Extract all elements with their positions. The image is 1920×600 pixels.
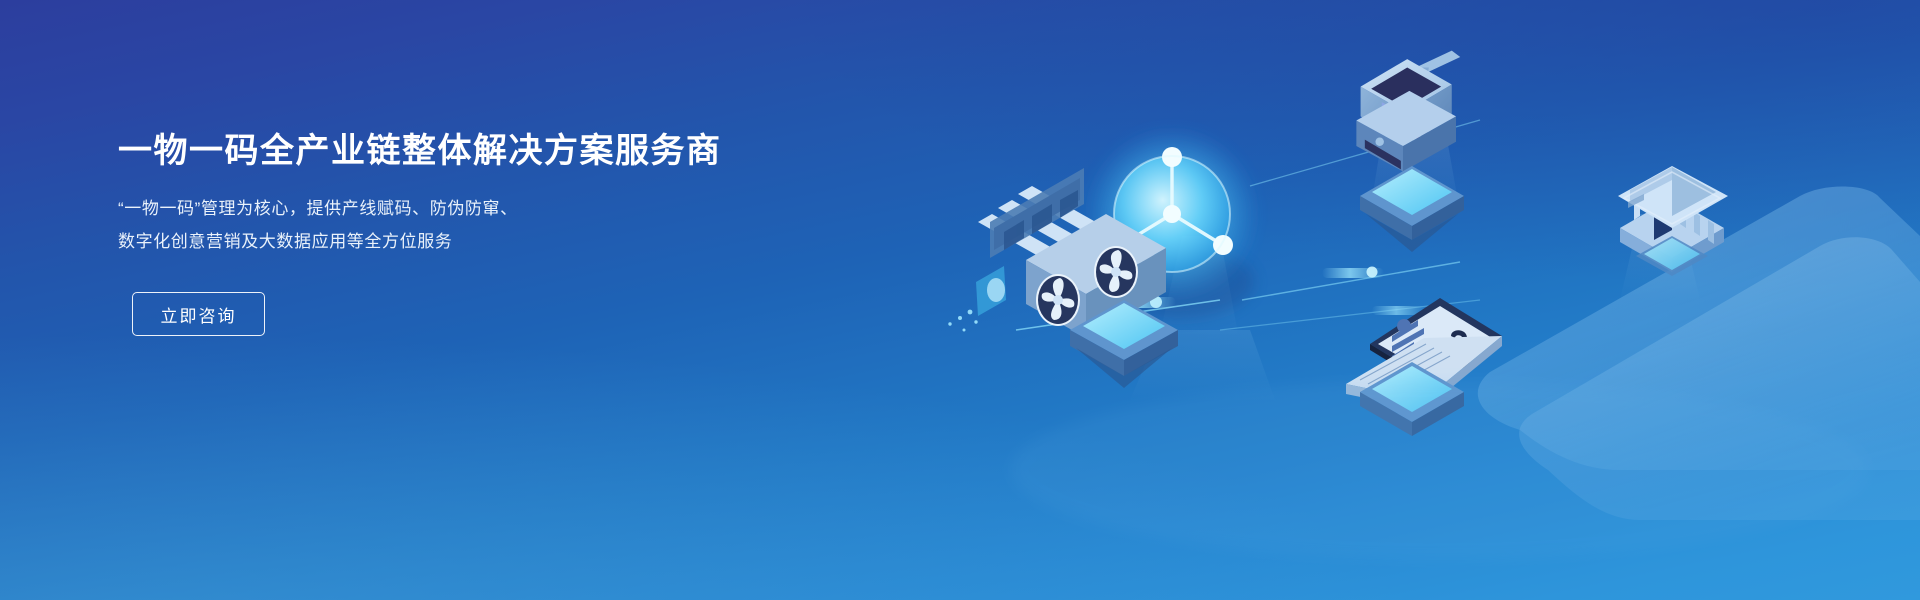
consult-now-button[interactable]: 立即咨询 [132,292,265,336]
emitter-particles [948,266,1006,332]
page-title: 一物一码全产业链整体解决方案服务商 [118,131,758,172]
subtitle-line-1: “一物一码”管理为核心，提供产线赋码、防伪防窜、 [118,192,663,225]
hero-subtitle: “一物一码”管理为核心，提供产线赋码、防伪防窜、 数字化创意营销及大数据应用等全… [118,192,663,258]
subtitle-line-2: 数字化创意营销及大数据应用等全方位服务 [118,225,663,258]
hero-banner: 一物一码全产业链整体解决方案服务商 “一物一码”管理为核心，提供产线赋码、防伪防… [0,0,1920,600]
hero-copy: 一物一码全产业链整体解决方案服务商 “一物一码”管理为核心，提供产线赋码、防伪防… [118,131,758,336]
hero-illustration [920,0,1920,600]
